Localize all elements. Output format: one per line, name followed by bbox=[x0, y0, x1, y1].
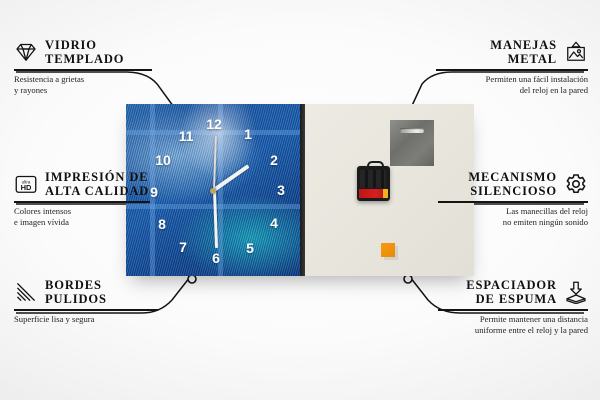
gear-icon bbox=[564, 172, 588, 196]
mechanism-chip bbox=[383, 189, 388, 198]
diagonal-lines-icon bbox=[14, 280, 38, 304]
callout-description: Permiten una fácil instalación del reloj… bbox=[436, 74, 588, 97]
clock-numeral-3: 3 bbox=[277, 183, 285, 197]
callout-divider bbox=[436, 69, 588, 71]
clock-numeral-11: 11 bbox=[179, 129, 194, 143]
callout-header: MANEJAS METAL bbox=[436, 38, 588, 66]
metal-hanger-plate bbox=[390, 120, 434, 166]
ultra-hd-bottom-text: HD bbox=[21, 183, 32, 192]
clock-numeral-12: 12 bbox=[206, 117, 222, 131]
clock-numeral-9: 9 bbox=[150, 185, 158, 199]
callout-description: Permite mantener una distancia uniforme … bbox=[438, 314, 588, 337]
callout-description: Resistencia a grietas y rayones bbox=[14, 74, 152, 97]
callout-espaciador-espuma: ESPACIADOR DE ESPUMA Permite mantener un… bbox=[438, 278, 588, 337]
leader-dot-espaciador bbox=[404, 275, 412, 283]
leader-dot-bordes bbox=[188, 275, 196, 283]
callout-vidrio-templado: VIDRIO TEMPLADO Resistencia a grietas y … bbox=[14, 38, 152, 97]
callout-title: MANEJAS METAL bbox=[490, 38, 557, 66]
infographic-canvas: 12 1 2 3 4 5 6 7 8 9 10 11 bbox=[0, 0, 600, 400]
callout-impresion-alta-calidad: ultra HD IMPRESIÓN DE ALTA CALIDAD Color… bbox=[14, 170, 150, 229]
callout-title: ESPACIADOR DE ESPUMA bbox=[466, 278, 557, 306]
callout-description: Colores intensos e imagen vívida bbox=[14, 206, 150, 229]
callout-title: IMPRESIÓN DE ALTA CALIDAD bbox=[45, 170, 149, 198]
callout-divider bbox=[438, 309, 588, 311]
mechanism-body bbox=[360, 170, 386, 188]
clock-numeral-8: 8 bbox=[158, 217, 166, 231]
clock-numeral-6: 6 bbox=[212, 251, 220, 265]
arrow-onto-pad-icon bbox=[564, 280, 588, 304]
foam-spacer bbox=[381, 243, 395, 257]
callout-title: BORDES PULIDOS bbox=[45, 278, 107, 306]
hanger-slot bbox=[400, 128, 424, 133]
callout-header: BORDES PULIDOS bbox=[14, 278, 158, 306]
callout-description: Las manecillas del reloj no emiten ningú… bbox=[438, 206, 588, 229]
clock-minute-hand bbox=[213, 190, 218, 248]
callout-divider bbox=[14, 309, 158, 311]
clock-numeral-4: 4 bbox=[270, 216, 278, 230]
ultra-hd-badge-icon: ultra HD bbox=[14, 172, 38, 196]
clock-numeral-1: 1 bbox=[244, 127, 252, 141]
quartz-mechanism-box bbox=[357, 166, 390, 201]
callout-header: ultra HD IMPRESIÓN DE ALTA CALIDAD bbox=[14, 170, 150, 198]
callout-header: MECANISMO SILENCIOSO bbox=[438, 170, 588, 198]
callout-description: Superficie lisa y segura bbox=[14, 314, 158, 326]
callout-mecanismo-silencioso: MECANISMO SILENCIOSO Las manecillas del … bbox=[438, 170, 588, 229]
product-photo: 12 1 2 3 4 5 6 7 8 9 10 11 bbox=[126, 104, 474, 276]
callout-header: ESPACIADOR DE ESPUMA bbox=[438, 278, 588, 306]
clock-hand-cap bbox=[210, 188, 216, 194]
clock-numeral-10: 10 bbox=[155, 153, 171, 167]
clock-numeral-2: 2 bbox=[270, 153, 278, 167]
clock-numeral-7: 7 bbox=[179, 240, 187, 254]
clock-numeral-5: 5 bbox=[246, 241, 254, 255]
diamond-icon bbox=[14, 40, 38, 64]
clock-face-front: 12 1 2 3 4 5 6 7 8 9 10 11 bbox=[126, 104, 300, 276]
callout-divider bbox=[438, 201, 588, 203]
callout-divider bbox=[14, 201, 150, 203]
callout-divider bbox=[14, 69, 152, 71]
callout-title: MECANISMO SILENCIOSO bbox=[468, 170, 557, 198]
callout-bordes-pulidos: BORDES PULIDOS Superficie lisa y segura bbox=[14, 278, 158, 325]
callout-title: VIDRIO TEMPLADO bbox=[45, 38, 124, 66]
picture-frame-hanging-icon bbox=[564, 40, 588, 64]
callout-header: VIDRIO TEMPLADO bbox=[14, 38, 152, 66]
callout-manejas-metal: MANEJAS METAL Permiten una fácil instala… bbox=[436, 38, 588, 97]
